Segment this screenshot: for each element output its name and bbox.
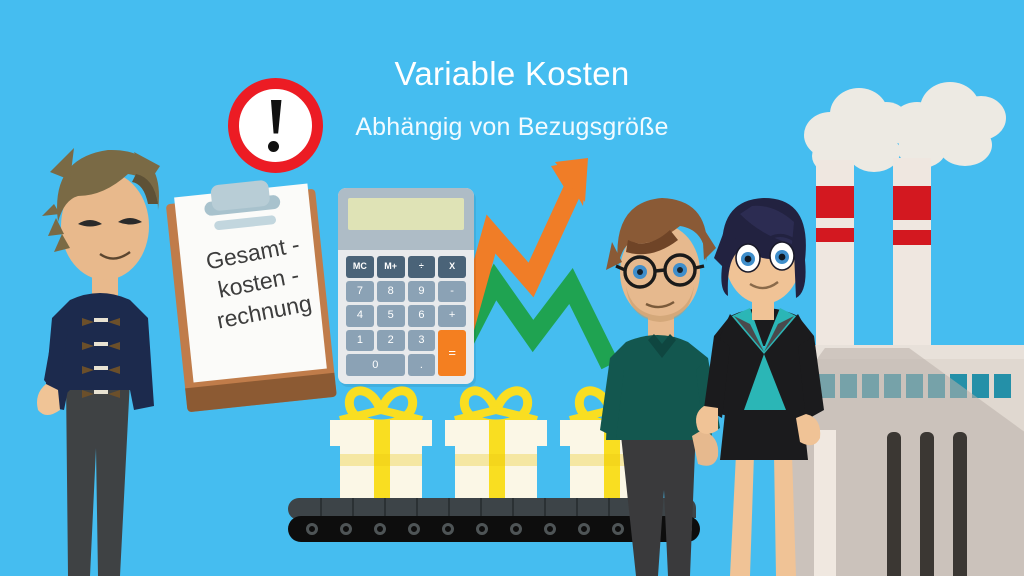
character-woman-in-blazer: [700, 196, 828, 576]
calculator-top-panel: [338, 188, 474, 250]
factory-gate-bar: [920, 432, 934, 576]
calculator-key-2[interactable]: 2: [377, 330, 405, 352]
woman-leg: [730, 454, 754, 576]
conveyor-roller: [544, 523, 556, 535]
conveyor-roller: [442, 523, 454, 535]
calculator-key-decimal[interactable]: .: [408, 354, 436, 376]
illustration-canvas: Variable Kosten Abhängig von Bezugsgröße: [0, 0, 1024, 576]
glasses-man-trousers: [620, 426, 696, 576]
calculator-key-minus[interactable]: -: [438, 281, 466, 303]
factory-gate-bar: [953, 432, 967, 576]
calculator-key-multiply[interactable]: X: [438, 256, 466, 278]
character-young-man-left: [8, 118, 198, 576]
conveyor-roller: [578, 523, 590, 535]
calculator-key-5[interactable]: 5: [377, 305, 405, 327]
gift-ribbon-shade: [455, 454, 537, 466]
smokestack-right: [893, 158, 931, 360]
calculator-key-8[interactable]: 8: [377, 281, 405, 303]
page-subtitle: Abhängig von Bezugsgröße: [0, 113, 1024, 142]
calculator-key-1[interactable]: 1: [346, 330, 374, 352]
left-person-trousers: [66, 380, 130, 576]
calculator-key-mc[interactable]: MC: [346, 256, 374, 278]
woman-hand: [696, 406, 718, 434]
calculator-key-9[interactable]: 9: [408, 281, 436, 303]
calculator-key-7[interactable]: 7: [346, 281, 374, 303]
conveyor-roller: [374, 523, 386, 535]
woman-leg: [774, 454, 796, 576]
factory-gate-bar: [887, 432, 901, 576]
gift-ribbon-shade: [340, 454, 422, 466]
conveyor-roller: [476, 523, 488, 535]
clipboard-paper: Gesamt - kosten - rechnung: [174, 183, 327, 382]
calculator-key-4[interactable]: 4: [346, 305, 374, 327]
calculator-key-3[interactable]: 3: [408, 330, 436, 352]
calculator-key-divide[interactable]: ÷: [408, 256, 436, 278]
conveyor-roller: [306, 523, 318, 535]
conveyor-roller: [408, 523, 420, 535]
calculator-keypad[interactable]: MC M+ ÷ X 7 8 9 - 4 5 6 + 1 2 3 = 0 .: [346, 256, 466, 376]
woman-skirt: [720, 404, 808, 460]
calculator-key-equals[interactable]: =: [438, 330, 466, 376]
conveyor-roller: [510, 523, 522, 535]
calculator-key-0[interactable]: 0: [346, 354, 405, 376]
calculator-key-plus[interactable]: +: [438, 305, 466, 327]
clipboard: Gesamt - kosten - rechnung: [165, 183, 337, 413]
calculator[interactable]: MC M+ ÷ X 7 8 9 - 4 5 6 + 1 2 3 = 0 .: [338, 188, 474, 384]
calculator-screen: [348, 198, 464, 230]
conveyor-roller: [340, 523, 352, 535]
page-title: Variable Kosten: [0, 55, 1024, 93]
calculator-key-6[interactable]: 6: [408, 305, 436, 327]
calculator-key-mplus[interactable]: M+: [377, 256, 405, 278]
clipboard-text: Gesamt - kosten - rechnung: [176, 224, 340, 341]
